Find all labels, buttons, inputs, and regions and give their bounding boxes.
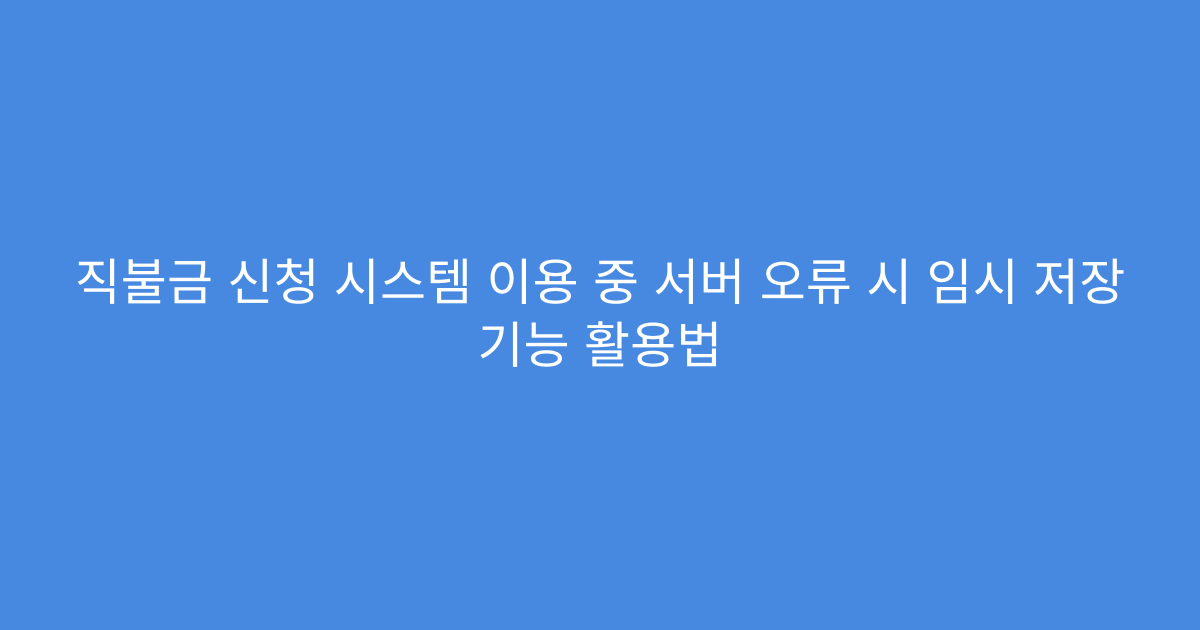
social-share-card: 직불금 신청 시스템 이용 중 서버 오류 시 임시 저장 기능 활용법 (0, 0, 1200, 630)
card-title: 직불금 신청 시스템 이용 중 서버 오류 시 임시 저장 기능 활용법 (48, 252, 1152, 378)
card-content: 직불금 신청 시스템 이용 중 서버 오류 시 임시 저장 기능 활용법 (48, 252, 1152, 378)
